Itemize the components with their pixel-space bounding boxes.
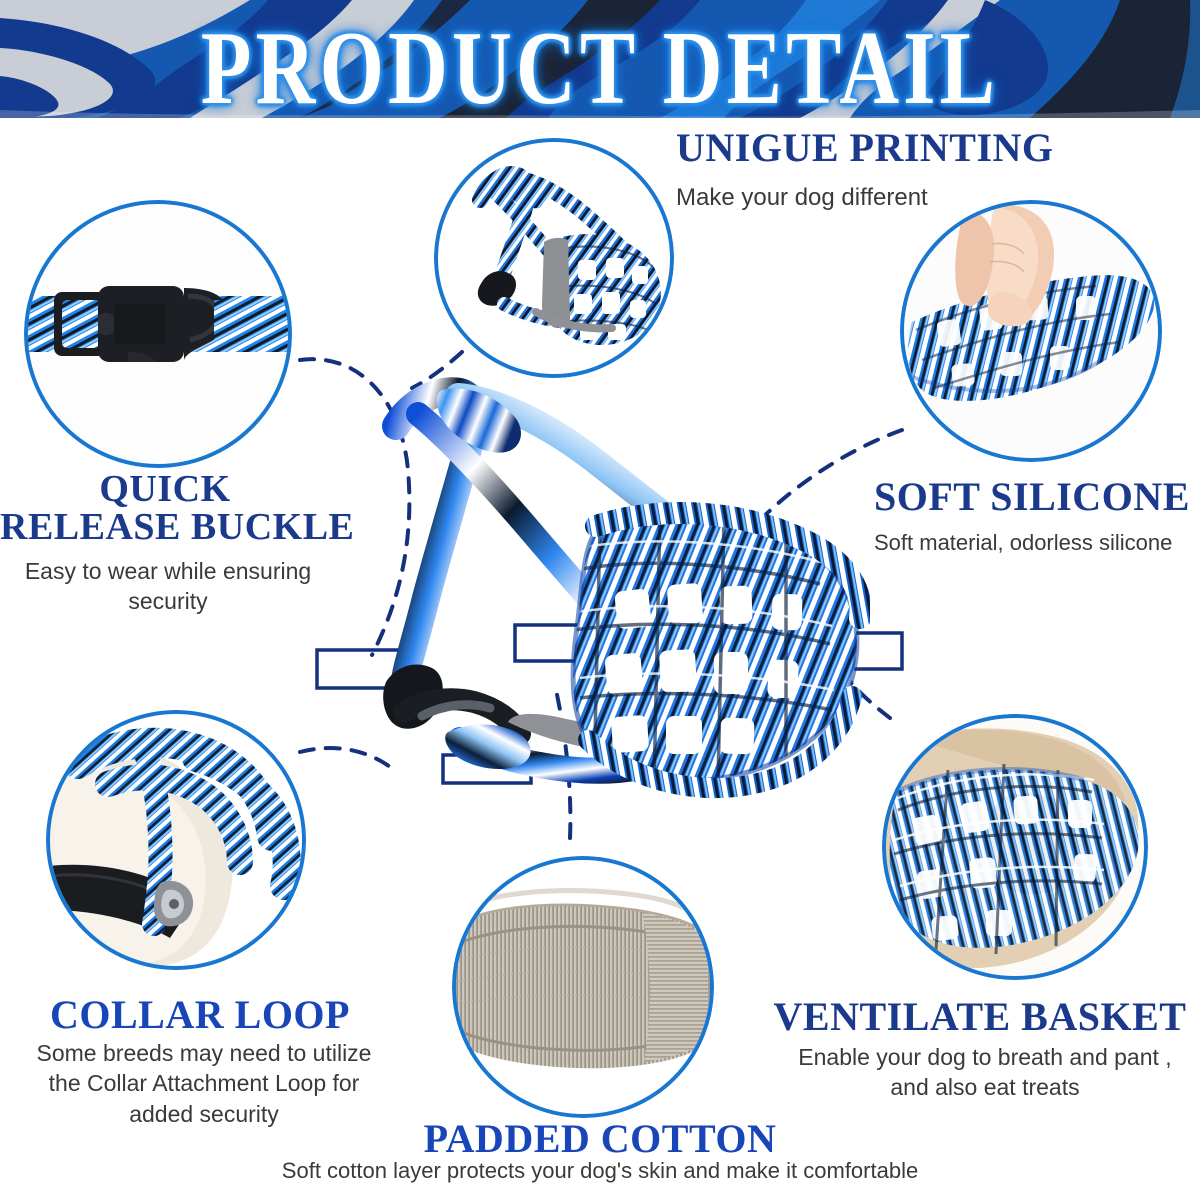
feature-title-ventilate-basket: VENTILATE BASKET [760, 996, 1200, 1038]
circle-ring [882, 714, 1148, 980]
collar-loop-photo [46, 710, 306, 970]
feature-title-padded-cotton: PADDED COTTON [380, 1118, 820, 1160]
circle-ring [24, 200, 292, 468]
circle-ring [452, 856, 714, 1118]
center-product-image [300, 330, 870, 860]
feature-title-unique-printing: UNIGUE PRINTING [676, 127, 1054, 169]
feature-desc-padded-cotton: Soft cotton layer protects your dog's sk… [230, 1156, 970, 1185]
feature-desc-quick-release-buckle: Easy to wear while ensuring security [8, 556, 328, 617]
feature-desc-soft-silicone: Soft material, odorless silicone [874, 528, 1194, 557]
feature-title-quick-release-buckle-line2: RELEASE BUCKLE [0, 508, 336, 548]
header-banner: PRODUCT DETAIL [0, 0, 1200, 118]
circle-ring [46, 710, 306, 970]
padded-cotton-photo [452, 856, 714, 1118]
soft-silicone-photo [900, 200, 1162, 462]
quick-release-buckle-photo [24, 200, 292, 468]
page-title: PRODUCT DETAIL [0, 8, 1200, 118]
circle-ring [900, 200, 1162, 462]
feature-title-collar-loop: COLLAR LOOP [0, 994, 400, 1036]
feature-title-soft-silicone: SOFT SILICONE [874, 476, 1190, 518]
feature-desc-ventilate-basket: Enable your dog to breath and pant , and… [790, 1042, 1180, 1103]
ventilate-basket-photo [882, 714, 1148, 980]
muzzle-full-product-photo [434, 138, 674, 378]
feature-desc-collar-loop: Some breeds may need to utilize the Coll… [24, 1038, 384, 1129]
circle-ring [434, 138, 674, 378]
feature-title-quick-release-buckle-line1: QUICK [0, 470, 330, 510]
